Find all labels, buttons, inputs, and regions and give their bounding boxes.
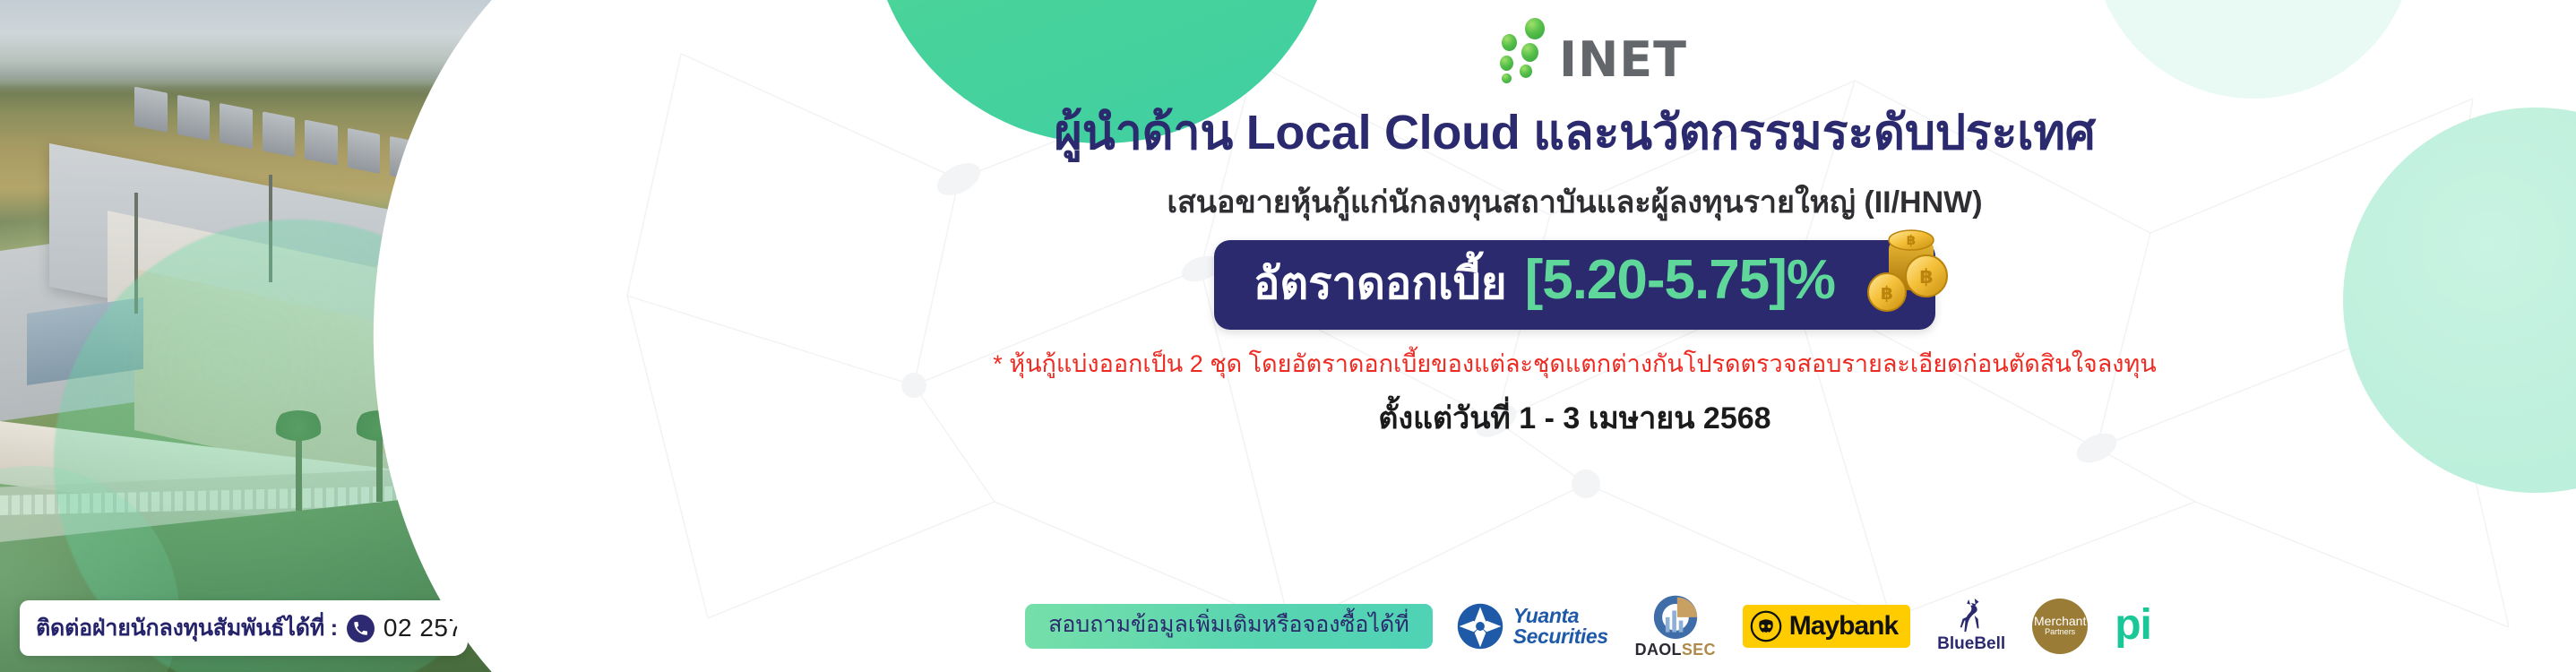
partner-logo-maybank[interactable]: Maybank	[1743, 605, 1910, 648]
svg-text:฿: ฿	[1919, 266, 1933, 289]
bluebell-deer-icon	[1954, 598, 1988, 633]
partner-row: สอบถามข้อมูลเพิ่มเติมหรือจองซื้อได้ที่ Y…	[573, 592, 2576, 659]
light-pole	[269, 175, 272, 282]
interest-rate-label: อัตราดอกเบี้ย	[1254, 248, 1507, 318]
gold-bitcoin-coins-icon: ฿ ฿ ฿	[1842, 217, 1950, 317]
merchant-line1: Merchant	[2034, 615, 2086, 628]
investor-relations-contact-card[interactable]: ติดต่อฝ่ายนักลงทุนสัมพันธ์ได้ที่ : 02 25…	[20, 600, 468, 656]
bluebell-label: BlueBell	[1937, 634, 2005, 654]
daol-line2: SEC	[1682, 641, 1716, 659]
partner-logo-strip: Yuanta Securities DAOLSEC	[1456, 592, 2151, 659]
pi-wordmark-icon: pi	[2115, 608, 2151, 642]
phone-icon	[347, 615, 375, 642]
palm-tree	[296, 430, 302, 511]
yuanta-line2: Securities	[1513, 626, 1608, 646]
daol-circle-icon	[1650, 592, 1701, 639]
maybank-tiger-icon	[1750, 610, 1782, 642]
partner-logo-daol[interactable]: DAOLSEC	[1635, 592, 1716, 659]
svg-text:฿: ฿	[1907, 232, 1916, 248]
partner-logo-yuanta[interactable]: Yuanta Securities	[1456, 602, 1608, 650]
offer-period-text: ตั้งแต่วันที่ 1 - 3 เมษายน 2568	[1378, 393, 1770, 442]
promo-banner: ติดต่อฝ่ายนักลงทุนสัมพันธ์ได้ที่ : 02 25…	[0, 0, 2576, 672]
partner-logo-bluebell[interactable]: BlueBell	[1937, 598, 2005, 654]
interest-rate-block: อัตราดอกเบี้ย [5.20-5.75]%	[1214, 240, 1935, 330]
inet-logo[interactable]: INET	[1498, 13, 1687, 82]
merchant-line2: Partners	[2045, 628, 2075, 636]
svg-text:฿: ฿	[1881, 282, 1893, 304]
palm-tree	[376, 430, 383, 502]
contact-label: ติดต่อฝ่ายนักลงทุนสัมพันธ์ได้ที่ :	[36, 610, 338, 646]
yuanta-star-icon	[1456, 602, 1504, 650]
interest-rate-value: [5.20-5.75]%	[1525, 248, 1835, 312]
maybank-label: Maybank	[1789, 611, 1898, 642]
inet-logo-text: INET	[1559, 37, 1687, 82]
partner-logo-merchant-partners[interactable]: Merchant Partners	[2032, 599, 2088, 654]
inquiry-cta-button[interactable]: สอบถามข้อมูลเพิ่มเติมหรือจองซื้อได้ที่	[1025, 604, 1433, 649]
yuanta-line1: Yuanta	[1513, 606, 1608, 625]
green-bubbles-icon	[1498, 16, 1554, 82]
footnote-text: * หุ้นกู้แบ่งออกเป็น 2 ชุด โดยอัตราดอกเบ…	[993, 344, 2156, 383]
page-title: ผู้นำด้าน Local Cloud และนวัตกรรมระดับปร…	[1054, 93, 2095, 170]
interest-rate-box: อัตราดอกเบี้ย [5.20-5.75]%	[1214, 240, 1935, 330]
partner-logo-pi[interactable]: pi	[2115, 608, 2151, 642]
light-pole	[134, 193, 138, 314]
daol-line1: DAOL	[1635, 641, 1682, 659]
content-panel: INET ผู้นำด้าน Local Cloud และนวัตกรรมระ…	[573, 0, 2576, 672]
